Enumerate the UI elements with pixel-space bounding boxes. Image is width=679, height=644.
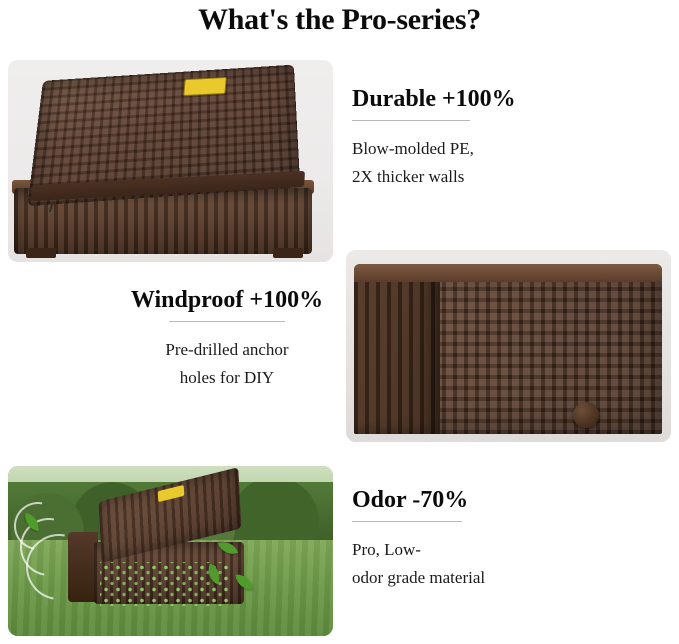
feature-odor-body-line2: odor grade material [352, 564, 582, 592]
warning-label-icon [183, 77, 227, 96]
infographic-page: What's the Pro-series? Durable +100% Blo… [0, 0, 679, 644]
product-image-wicker-corner [346, 250, 671, 442]
feature-durable-title: Durable +100% [352, 86, 582, 113]
feature-odor-body-line1: Pro, Low- [352, 536, 582, 564]
box-foot-right [273, 248, 303, 258]
feature-windproof-body: Pre-drilled anchor holes for DIY [116, 336, 338, 392]
feature-durable-body: Blow-molded PE, 2X thicker walls [352, 135, 582, 191]
feature-windproof-body-line2: holes for DIY [116, 364, 338, 392]
feature-durable-body-line1: Blow-molded PE, [352, 135, 582, 163]
feature-windproof-divider [169, 321, 285, 322]
box-foot-left [26, 248, 56, 258]
feature-windproof-title: Windproof +100% [116, 287, 338, 314]
feature-odor-divider [352, 521, 462, 522]
product-image-open-lid [8, 60, 333, 262]
wicker-side-panel [354, 264, 440, 434]
feature-durable: Durable +100% Blow-molded PE, 2X thicker… [352, 86, 582, 191]
feature-windproof: Windproof +100% Pre-drilled anchor holes… [116, 287, 338, 392]
feature-odor: Odor -70% Pro, Low- odor grade material [352, 487, 582, 592]
page-title: What's the Pro-series? [0, 0, 679, 40]
feature-durable-divider [352, 120, 470, 121]
feature-durable-body-line2: 2X thicker walls [352, 163, 582, 191]
product-image-lawn-scene [8, 466, 333, 636]
feature-odor-body: Pro, Low- odor grade material [352, 536, 582, 592]
feature-odor-title: Odor -70% [352, 487, 582, 514]
feature-windproof-body-line1: Pre-drilled anchor [116, 336, 338, 364]
anchor-hole-knob-icon [573, 402, 599, 428]
wicker-top-edge [354, 264, 662, 282]
